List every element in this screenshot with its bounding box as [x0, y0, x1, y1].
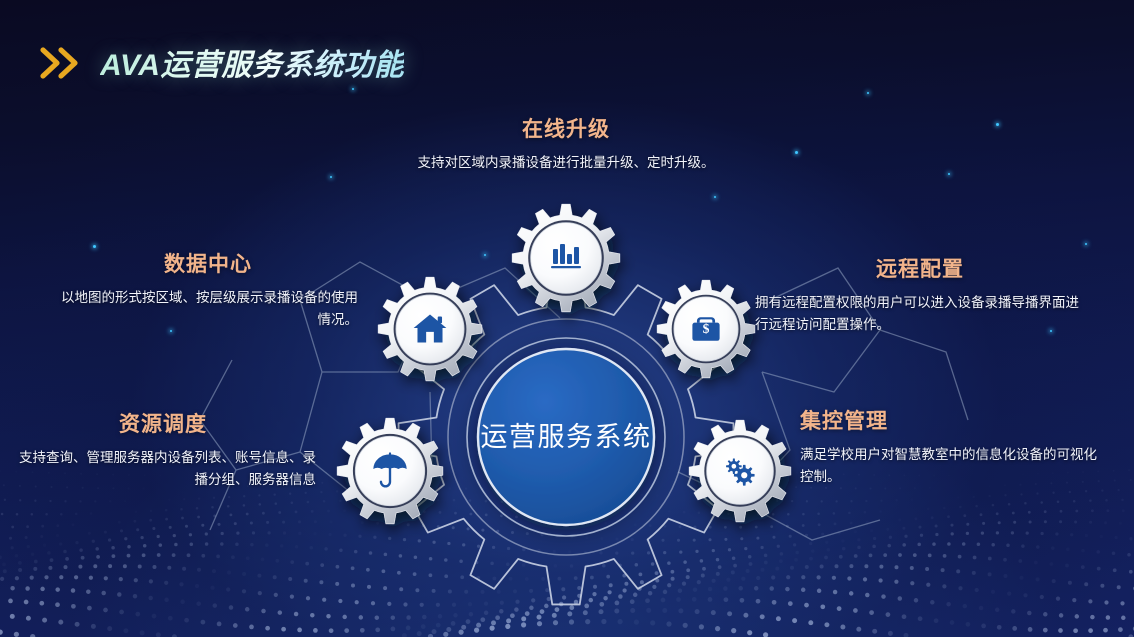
node-body-online-upgrade: 支持对区域内录播设备进行批量升级、定时升级。	[373, 152, 759, 174]
node-title-online-upgrade: 在线升级	[373, 113, 759, 143]
gear-node-remote_config[interactable]: $	[657, 280, 755, 378]
center-label: 运营服务系统	[481, 422, 652, 452]
svg-text:$: $	[703, 321, 710, 336]
node-text-resource-scheduling: 资源调度 支持查询、管理服务器内设备列表、账号信息、录播分组、服务器信息	[10, 408, 316, 492]
gear-node-online_upgrade[interactable]	[512, 204, 620, 312]
node-text-remote-config: 远程配置 拥有远程配置权限的用户可以进入设备录播导播界面进行远程访问配置操作。	[755, 253, 1085, 337]
node-body-data-center: 以地图的形式按区域、按层级展示录播设备的使用情况。	[58, 287, 358, 332]
node-title-remote-config: 远程配置	[755, 253, 1085, 283]
node-body-remote-config: 拥有远程配置权限的用户可以进入设备录播导播界面进行远程访问配置操作。	[755, 292, 1085, 337]
node-title-resource-scheduling: 资源调度	[10, 408, 316, 438]
node-title-data-center: 数据中心	[58, 248, 358, 278]
gear-node-data_center[interactable]	[378, 277, 482, 381]
node-body-central-control: 满足学校用户对智慧教室中的信息化设备的可视化控制。	[800, 444, 1110, 489]
node-text-central-control: 集控管理 满足学校用户对智慧教室中的信息化设备的可视化控制。	[800, 405, 1110, 489]
node-text-online-upgrade: 在线升级 支持对区域内录播设备进行批量升级、定时升级。	[373, 113, 759, 174]
gear-node-central_control[interactable]	[689, 420, 791, 522]
node-title-central-control: 集控管理	[800, 405, 1110, 435]
node-text-data-center: 数据中心 以地图的形式按区域、按层级展示录播设备的使用情况。	[58, 248, 358, 332]
gear-node-resource_scheduling[interactable]	[337, 418, 443, 524]
node-body-resource-scheduling: 支持查询、管理服务器内设备列表、账号信息、录播分组、服务器信息	[10, 447, 316, 492]
slide-canvas: AVA运营服务系统功能	[0, 0, 1134, 637]
